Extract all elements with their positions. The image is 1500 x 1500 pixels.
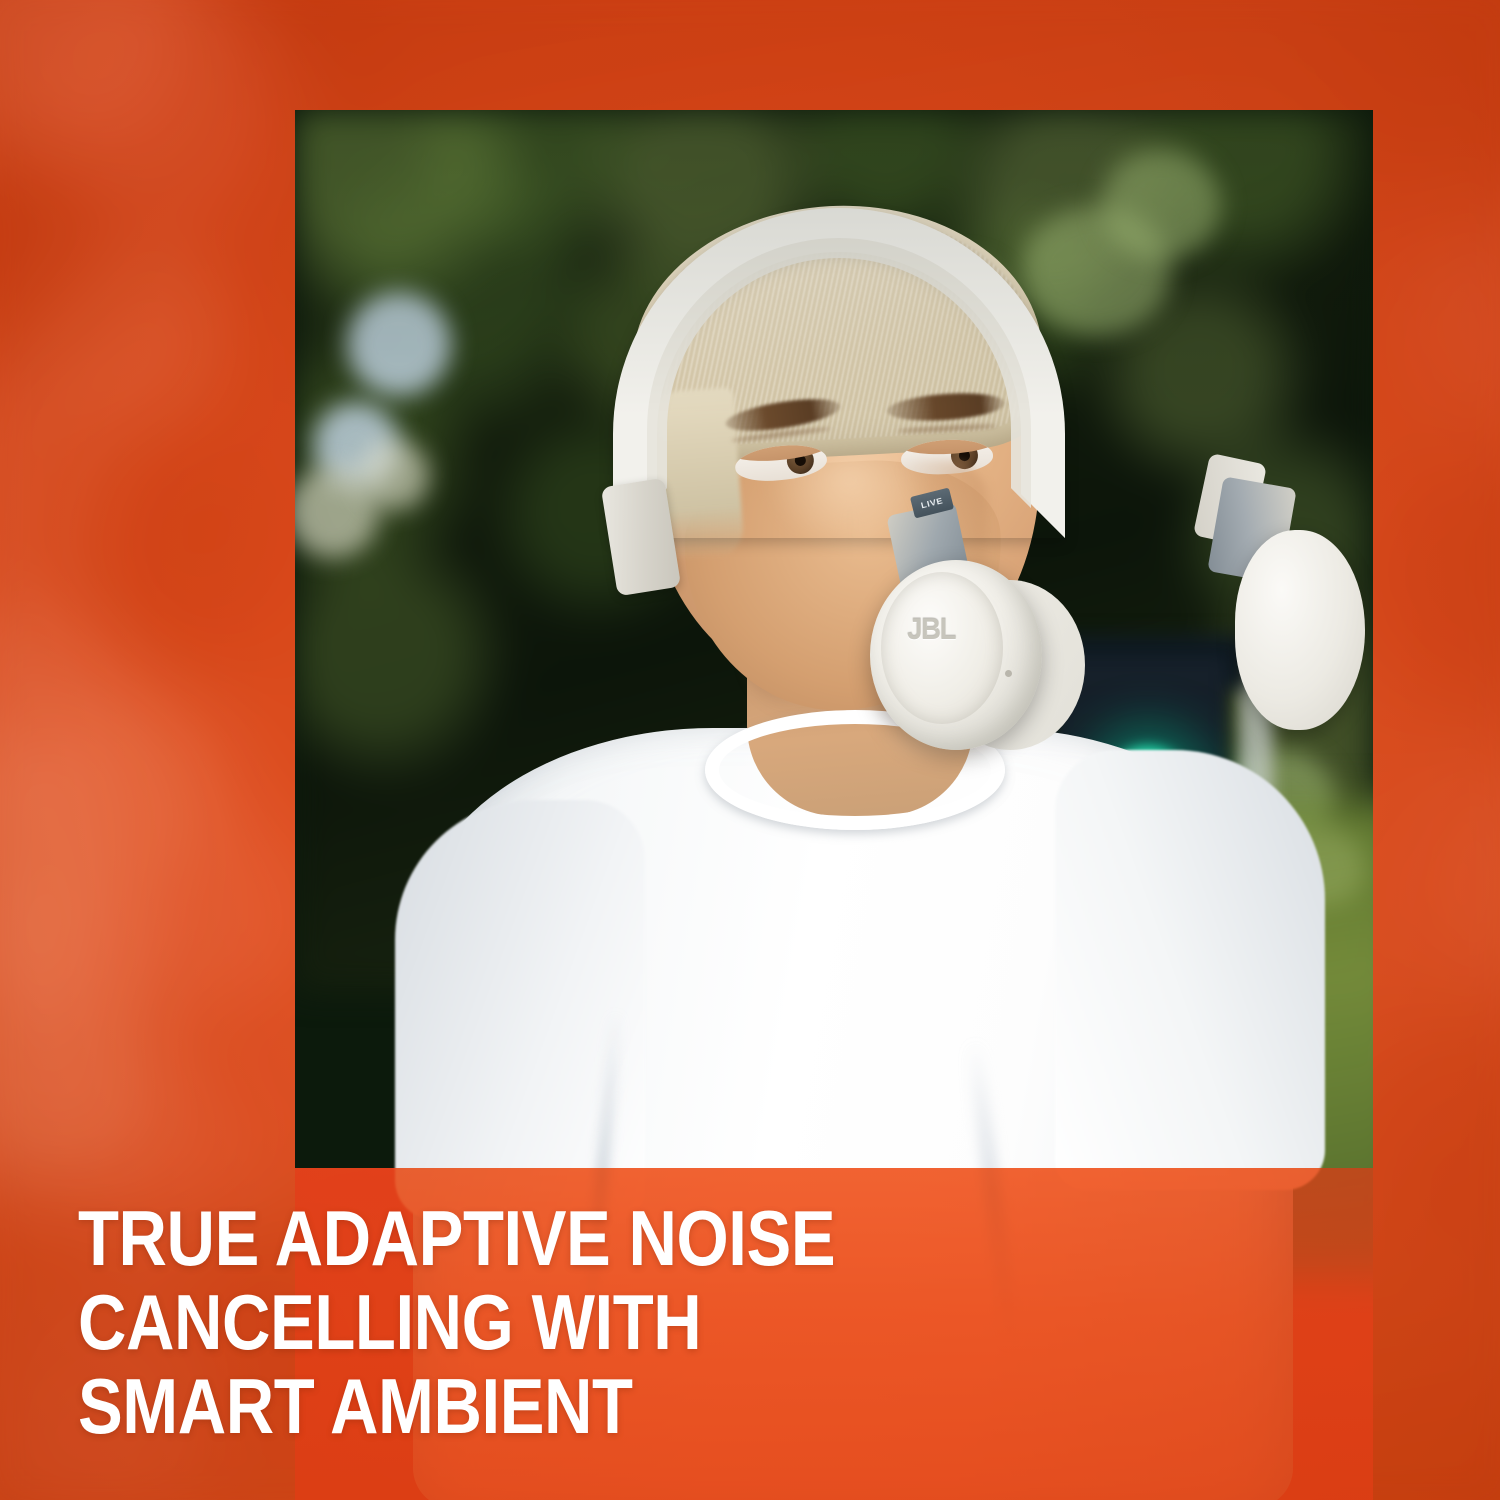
jbl-logo: JBL <box>895 610 967 650</box>
live-badge-label: LIVE <box>920 496 944 510</box>
photo-scene: LIVE JBL <box>295 110 1373 1168</box>
headline-line-1: TRUE ADAPTIVE NOISE <box>78 1196 1196 1280</box>
headline: TRUE ADAPTIVE NOISE CANCELLING WITH SMAR… <box>78 1196 1378 1448</box>
headline-line-3: SMART AMBIENT <box>78 1364 1196 1448</box>
person-subject: LIVE JBL <box>295 110 1373 1168</box>
product-marketing-image: LIVE JBL <box>0 0 1500 1500</box>
product-photo: LIVE JBL <box>295 110 1373 1168</box>
shoulder-right <box>1055 750 1325 1168</box>
headphone-earcup-right <box>1235 530 1365 730</box>
headline-line-2: CANCELLING WITH <box>78 1280 1196 1364</box>
headphone-mic-port <box>1005 670 1012 677</box>
jbl-logo-text: JBL <box>907 613 955 647</box>
